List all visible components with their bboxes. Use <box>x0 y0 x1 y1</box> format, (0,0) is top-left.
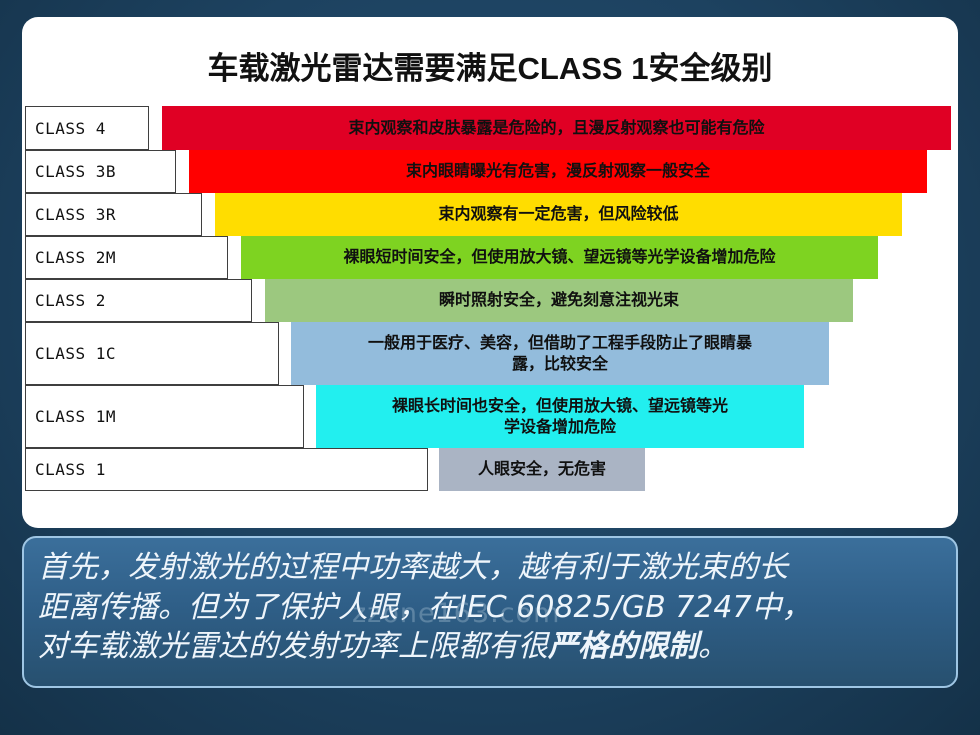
hazard-description: 束内眼睛曝光有危害，漫反射观察一般安全 <box>400 161 716 181</box>
hazard-bar: 束内观察有一定危害，但风险较低 <box>215 193 902 236</box>
hazard-bar: 人眼安全，无危害 <box>439 448 645 491</box>
class-label: CLASS 2M <box>35 248 116 267</box>
class-label-cell: CLASS 1M <box>25 385 304 448</box>
table-row: 一般用于医疗、美容，但借助了工程手段防止了眼睛暴 露，比较安全CLASS 1C <box>25 322 955 385</box>
class-label-cell: CLASS 2M <box>25 236 228 279</box>
class-label: CLASS 3B <box>35 162 116 181</box>
hazard-description: 束内观察和皮肤暴露是危险的，且漫反射观察也可能有危险 <box>342 118 770 138</box>
caption-balloon: 首先，发射激光的过程中功率越大，越有利于激光束的长 距离传播。但为了保护人眼，在… <box>22 536 958 688</box>
table-row: 束内观察和皮肤暴露是危险的，且漫反射观察也可能有危险CLASS 4 <box>25 106 955 150</box>
class-label: CLASS 4 <box>35 119 106 138</box>
class-label-cell: CLASS 1C <box>25 322 279 385</box>
hazard-bar: 束内观察和皮肤暴露是危险的，且漫反射观察也可能有危险 <box>162 106 951 150</box>
caption-line-1: 首先，发射激光的过程中功率越大，越有利于激光束的长 <box>38 550 788 585</box>
class-rows-table: 束内观察和皮肤暴露是危险的，且漫反射观察也可能有危险CLASS 4束内眼睛曝光有… <box>25 106 955 491</box>
caption-emphasis: 严格的限制 <box>548 629 698 664</box>
class-label-cell: CLASS 1 <box>25 448 428 491</box>
table-row: 裸眼长时间也安全，但使用放大镜、望远镜等光 学设备增加危险CLASS 1M <box>25 385 955 448</box>
hazard-bar: 一般用于医疗、美容，但借助了工程手段防止了眼睛暴 露，比较安全 <box>291 322 829 385</box>
table-row: 瞬时照射安全，避免刻意注视光束CLASS 2 <box>25 279 955 322</box>
page-title: 车载激光雷达需要满足CLASS 1安全级别 <box>22 43 958 88</box>
hazard-description: 瞬时照射安全，避免刻意注视光束 <box>433 290 685 310</box>
table-row: 裸眼短时间安全，但使用放大镜、望远镜等光学设备增加危险CLASS 2M <box>25 236 955 279</box>
hazard-description: 束内观察有一定危害，但风险较低 <box>432 204 684 224</box>
class-label: CLASS 2 <box>35 291 106 310</box>
hazard-bar: 裸眼长时间也安全，但使用放大镜、望远镜等光 学设备增加危险 <box>316 385 804 448</box>
table-row: 束内观察有一定危害，但风险较低CLASS 3R <box>25 193 955 236</box>
class-label: CLASS 3R <box>35 205 116 224</box>
class-label-cell: CLASS 3B <box>25 150 176 193</box>
class-label: CLASS 1 <box>35 460 106 479</box>
hazard-bar: 束内眼睛曝光有危害，漫反射观察一般安全 <box>189 150 927 193</box>
hazard-description: 一般用于医疗、美容，但借助了工程手段防止了眼睛暴 露，比较安全 <box>362 333 758 374</box>
hazard-description: 裸眼短时间安全，但使用放大镜、望远镜等光学设备增加危险 <box>337 247 781 267</box>
caption-line-2: 距离传播。但为了保护人眼，在IEC 60825/GB 7247中， <box>38 590 812 625</box>
hazard-bar: 瞬时照射安全，避免刻意注视光束 <box>265 279 853 322</box>
hazard-description: 人眼安全，无危害 <box>472 459 612 479</box>
class-label: CLASS 1C <box>35 344 116 363</box>
chart-card: 车载激光雷达需要满足CLASS 1安全级别 束内观察和皮肤暴露是危险的，且漫反射… <box>22 17 958 528</box>
table-row: 人眼安全，无危害CLASS 1 <box>25 448 955 491</box>
class-label: CLASS 1M <box>35 407 116 426</box>
caption-line-3-suffix: 。 <box>698 629 728 664</box>
table-row: 束内眼睛曝光有危害，漫反射观察一般安全CLASS 3B <box>25 150 955 193</box>
hazard-description: 裸眼长时间也安全，但使用放大镜、望远镜等光 学设备增加危险 <box>386 396 734 437</box>
class-label-cell: CLASS 3R <box>25 193 202 236</box>
caption-text: 首先，发射激光的过程中功率越大，越有利于激光束的长 距离传播。但为了保护人眼，在… <box>38 548 942 667</box>
class-label-cell: CLASS 4 <box>25 106 149 150</box>
class-label-cell: CLASS 2 <box>25 279 252 322</box>
caption-line-3-prefix: 对车载激光雷达的发射功率上限都有很 <box>38 629 548 664</box>
hazard-bar: 裸眼短时间安全，但使用放大镜、望远镜等光学设备增加危险 <box>241 236 878 279</box>
